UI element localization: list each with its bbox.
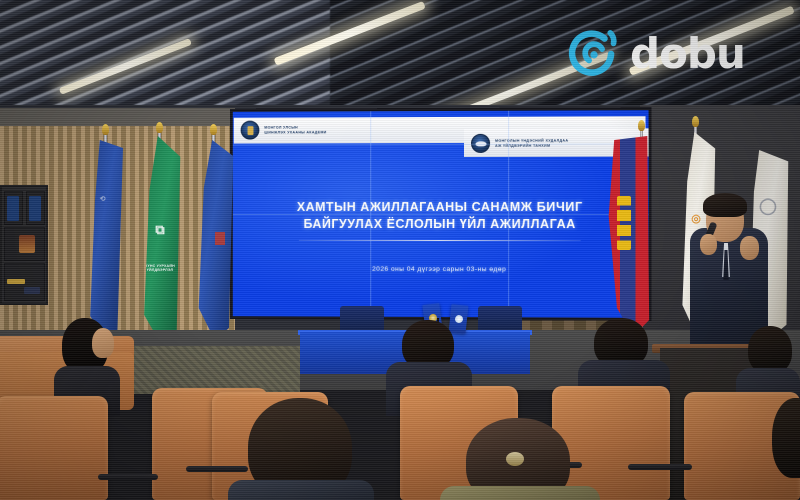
wall-cornice xyxy=(0,108,235,126)
display-shelf xyxy=(0,185,48,305)
person-face xyxy=(92,328,114,358)
flag-finial-icon xyxy=(638,120,645,131)
audience-chair xyxy=(0,396,108,500)
chair-armrest xyxy=(628,464,692,470)
slide-date: 2026 оны 04 дүгээр сарын 03-ны өдөр xyxy=(233,266,649,274)
org-left-text: МОНГОЛ УЛСЫН ШИНЖЛЭХ УХААНЫ АКАДЕМИ xyxy=(264,126,326,135)
shelf-book xyxy=(7,279,25,284)
photo-scene: МОНГОЛ УЛСЫН ШИНЖЛЭХ УХААНЫ АКАДЕМИ МОНГ… xyxy=(0,0,800,500)
audience-chair xyxy=(552,386,670,500)
slide-canvas: МОНГОЛ УЛСЫН ШИНЖЛЭХ УХААНЫ АКАДЕМИ МОНГ… xyxy=(233,110,649,318)
org-left-line2: ШИНЖЛЭХ УХААНЫ АКАДЕМИ xyxy=(264,130,326,134)
title-divider xyxy=(298,239,581,241)
hair-clip xyxy=(506,452,524,466)
shelf-book xyxy=(29,196,41,221)
person-hair xyxy=(748,326,792,374)
shelf-book xyxy=(7,196,19,221)
flag-emblem-icon: ◎ xyxy=(684,214,708,225)
academy-emblem-icon xyxy=(241,121,260,140)
slide-title: ХАМТЫН АЖИЛЛАГААНЫ САНАМЖ БИЧИГ БАЙГУУЛА… xyxy=(233,199,649,241)
flag-finial-icon xyxy=(102,124,109,135)
speaker-hand-right xyxy=(740,236,759,260)
flag-emblem-label: ХҮНС УУРХАЙН ҮЙЛДВЭРЛЭЛ xyxy=(144,265,176,272)
video-wall-screen: МОНГОЛ УЛСЫН ШИНЖЛЭХ УХААНЫ АКАДЕМИ МОНГ… xyxy=(230,107,652,321)
soyombo-icon xyxy=(617,196,631,250)
speaker-hair xyxy=(703,193,747,217)
person-body xyxy=(228,480,374,500)
signing-folder xyxy=(449,304,469,334)
person-body xyxy=(440,486,600,500)
panel-seam xyxy=(233,214,649,215)
flag-emblem-icon: ⧉ xyxy=(146,223,174,236)
flag-finial-icon xyxy=(692,116,699,127)
shelf-award xyxy=(19,235,35,253)
flag-finial-icon xyxy=(156,122,163,133)
brand-logo-overlay: dobu xyxy=(568,28,745,80)
shelf-book xyxy=(24,287,40,294)
speaker-hand-left xyxy=(700,234,717,255)
flag-finial-icon xyxy=(210,124,217,135)
dobu-swirl-icon xyxy=(568,28,620,80)
chair-armrest xyxy=(186,466,248,472)
org-left: МОНГОЛ УЛСЫН ШИНЖЛЭХ УХААНЫ АКАДЕМИ xyxy=(241,120,327,139)
flag-patch xyxy=(215,232,225,245)
folder-seal-icon xyxy=(454,314,463,323)
brand-name: dobu xyxy=(630,33,745,75)
chair-armrest xyxy=(98,474,158,480)
flag-emblem-icon: ◯ xyxy=(750,199,785,215)
slide-title-line2: БАЙГУУЛАХ ЁСЛОЛЫН ҮЙЛ АЖИЛЛАГАА xyxy=(233,216,649,233)
